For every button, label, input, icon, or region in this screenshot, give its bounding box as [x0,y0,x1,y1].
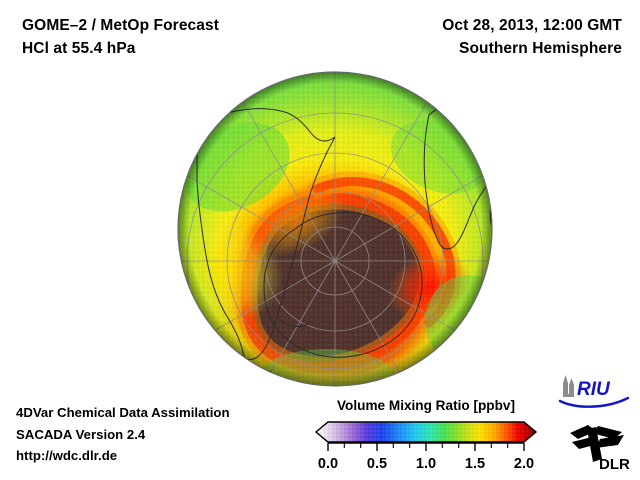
colorbar-dither [316,422,536,442]
limb-shading [178,72,492,386]
dlr-logo: DLR [566,415,636,473]
instrument-title: GOME–2 / MetOp Forecast [22,14,219,37]
dlr-logo-svg: DLR [566,415,636,473]
figure-canvas: GOME–2 / MetOp Forecast HCl at 55.4 hPa … [0,0,640,480]
colorbar-svg: 0.0 0.5 1.0 1.5 2.0 [310,418,542,474]
colorbar-tick-2: 1.0 [416,456,436,472]
colorbar-tick-labels: 0.0 0.5 1.0 1.5 2.0 [318,456,534,472]
riu-logo-svg: RIU [556,373,636,411]
method-label: 4DVar Chemical Data Assimilation [16,402,230,424]
version-label: SACADA Version 2.4 [16,424,230,446]
coast-south-georgia [229,365,251,371]
colorbar-title: Volume Mixing Ratio [ppbv] [310,398,542,413]
colorbar-tick-4: 2.0 [514,456,534,472]
url-label: http://wdc.dlr.de [16,445,230,467]
header-right: Oct 28, 2013, 12:00 GMT Southern Hemisph… [442,14,622,60]
colorbar: Volume Mixing Ratio [ppbv] [310,398,542,474]
timestamp-label: Oct 28, 2013, 12:00 GMT [442,14,622,37]
dlr-wordmark: DLR [599,456,630,473]
riu-towers-icon [563,375,574,397]
hemisphere-label: Southern Hemisphere [442,37,622,60]
colorbar-bar [316,422,536,442]
footer-left: 4DVar Chemical Data Assimilation SACADA … [16,402,230,467]
colorbar-axis [328,443,524,451]
colorbar-tick-1: 0.5 [367,456,387,472]
species-level-title: HCl at 55.4 hPa [22,37,219,60]
riu-logo: RIU [556,373,636,411]
colorbar-tick-3: 1.5 [465,456,485,472]
polar-map [177,71,493,387]
riu-wordmark: RIU [577,379,611,400]
polar-map-svg [177,71,493,387]
header-left: GOME–2 / MetOp Forecast HCl at 55.4 hPa [22,14,219,60]
colorbar-tick-0: 0.0 [318,456,338,472]
